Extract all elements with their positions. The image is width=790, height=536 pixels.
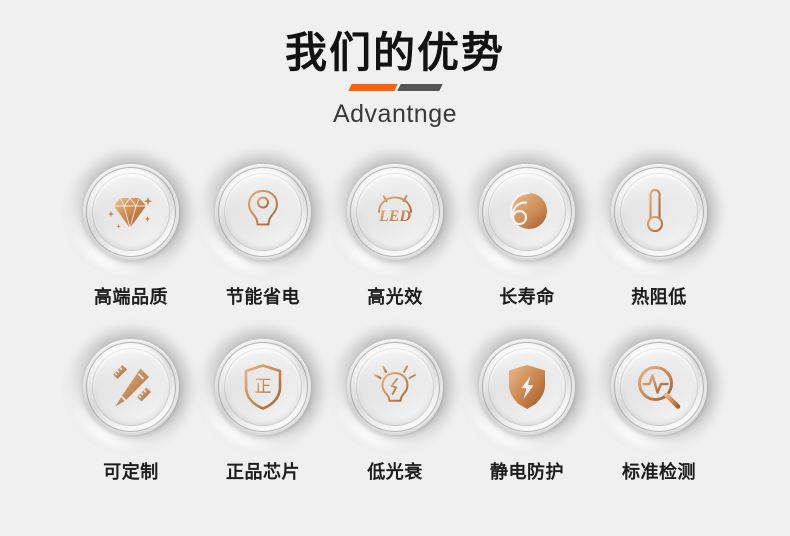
feature-button[interactable] — [461, 323, 593, 451]
divider-bar-orange — [348, 84, 397, 91]
feature-button[interactable] — [329, 323, 461, 451]
feature-button[interactable] — [461, 148, 593, 276]
metal-disc — [479, 339, 575, 435]
bulb-bolt-icon — [367, 359, 423, 415]
metal-disc: LED — [347, 164, 443, 260]
feature-item-energy-saving[interactable]: 节能省电 — [197, 148, 329, 308]
metal-disc — [347, 339, 443, 435]
feature-label: 高端品质 — [94, 286, 168, 308]
feature-button[interactable] — [65, 323, 197, 451]
feature-label: 高光效 — [367, 286, 423, 308]
page-subtitle: Advantnge — [0, 98, 790, 130]
feature-label: 节能省电 — [226, 286, 300, 308]
feature-label: 热阻低 — [631, 286, 687, 308]
feature-grid: 高端品质 — [0, 148, 790, 483]
feature-label: 长寿命 — [499, 286, 555, 308]
feature-item-esd-protection[interactable]: 静电防护 — [461, 323, 593, 483]
metal-disc: 正 — [215, 339, 311, 435]
feature-button[interactable] — [197, 148, 329, 276]
diamond-icon — [103, 184, 159, 240]
led-label: LED — [378, 208, 411, 225]
metal-disc — [215, 164, 311, 260]
title-divider — [0, 80, 790, 94]
lightbulb-icon — [235, 184, 291, 240]
shield-bolt-icon — [499, 359, 555, 415]
feature-label: 标准检测 — [622, 461, 696, 483]
feature-button[interactable] — [65, 148, 197, 276]
feature-item-standard-testing[interactable]: 标准检测 — [593, 323, 725, 483]
page-header: 我们的优势 Advantnge — [0, 0, 790, 130]
feature-button[interactable] — [593, 148, 725, 276]
feature-label: 正品芯片 — [226, 461, 300, 483]
feature-item-high-end-quality[interactable]: 高端品质 — [65, 148, 197, 308]
shield-zheng-icon: 正 — [235, 359, 291, 415]
divider-bar-gray — [397, 84, 442, 91]
feature-item-customizable[interactable]: 可定制 — [65, 323, 197, 483]
feature-item-genuine-chip[interactable]: 正 正品芯片 — [197, 323, 329, 483]
spiral-circles-icon — [499, 184, 555, 240]
metal-disc — [83, 164, 179, 260]
feature-button[interactable]: 正 — [197, 323, 329, 451]
feature-label: 低光衰 — [367, 461, 423, 483]
zheng-character: 正 — [255, 377, 272, 397]
feature-row-1: 高端品质 — [0, 148, 790, 308]
pencil-ruler-icon — [103, 359, 159, 415]
feature-button[interactable] — [593, 323, 725, 451]
feature-label: 可定制 — [103, 461, 159, 483]
page-title: 我们的优势 — [0, 28, 790, 78]
thermometer-icon — [631, 184, 687, 240]
feature-label: 静电防护 — [490, 461, 564, 483]
metal-disc — [611, 164, 707, 260]
feature-row-2: 可定制 — [0, 323, 790, 483]
feature-button[interactable]: LED — [329, 148, 461, 276]
feature-item-low-thermal-resistance[interactable]: 热阻低 — [593, 148, 725, 308]
feature-item-long-lifespan[interactable]: 长寿命 — [461, 148, 593, 308]
magnifier-pulse-icon — [631, 359, 687, 415]
feature-item-high-luminous-efficacy[interactable]: LED 高光效 — [329, 148, 461, 308]
led-sun-icon: LED — [367, 184, 423, 240]
feature-item-low-light-decay[interactable]: 低光衰 — [329, 323, 461, 483]
metal-disc — [611, 339, 707, 435]
metal-disc — [83, 339, 179, 435]
metal-disc — [479, 164, 575, 260]
